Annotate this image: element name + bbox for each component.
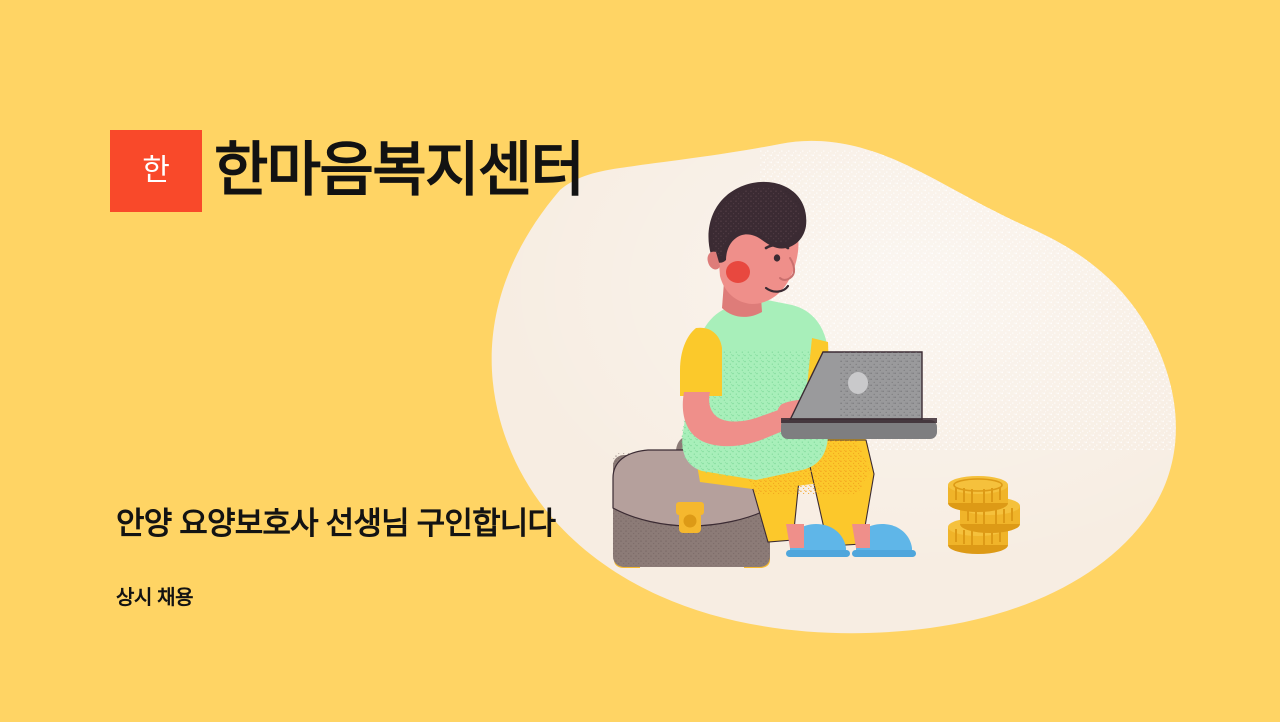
organization-header: 한 한마음복지센터 <box>110 130 583 212</box>
person-arms <box>683 388 882 446</box>
person-head <box>707 182 806 317</box>
organization-name: 한마음복지센터 <box>214 140 583 202</box>
coin-stack-icon <box>948 476 1020 554</box>
person-trousers <box>694 424 880 546</box>
man-working-on-laptop-illustration <box>0 0 1280 722</box>
briefcase-icon <box>605 436 785 575</box>
job-posting-card: 한 한마음복지센터 안양 요양보호사 선생님 구인합니다 상시 채용 <box>0 0 1280 722</box>
job-title: 안양 요양보호사 선생님 구인합니다 <box>116 505 555 542</box>
background-blob <box>0 0 1280 722</box>
person-shoes <box>786 524 916 557</box>
laptop-icon <box>781 352 937 439</box>
job-info-block: 안양 요양보호사 선생님 구인합니다 상시 채용 <box>116 505 555 610</box>
company-initial-label: 한 <box>142 156 170 186</box>
person-shirt <box>676 299 836 490</box>
recruitment-status-label: 상시 채용 <box>116 586 555 610</box>
company-initial-badge[interactable]: 한 <box>110 130 202 212</box>
